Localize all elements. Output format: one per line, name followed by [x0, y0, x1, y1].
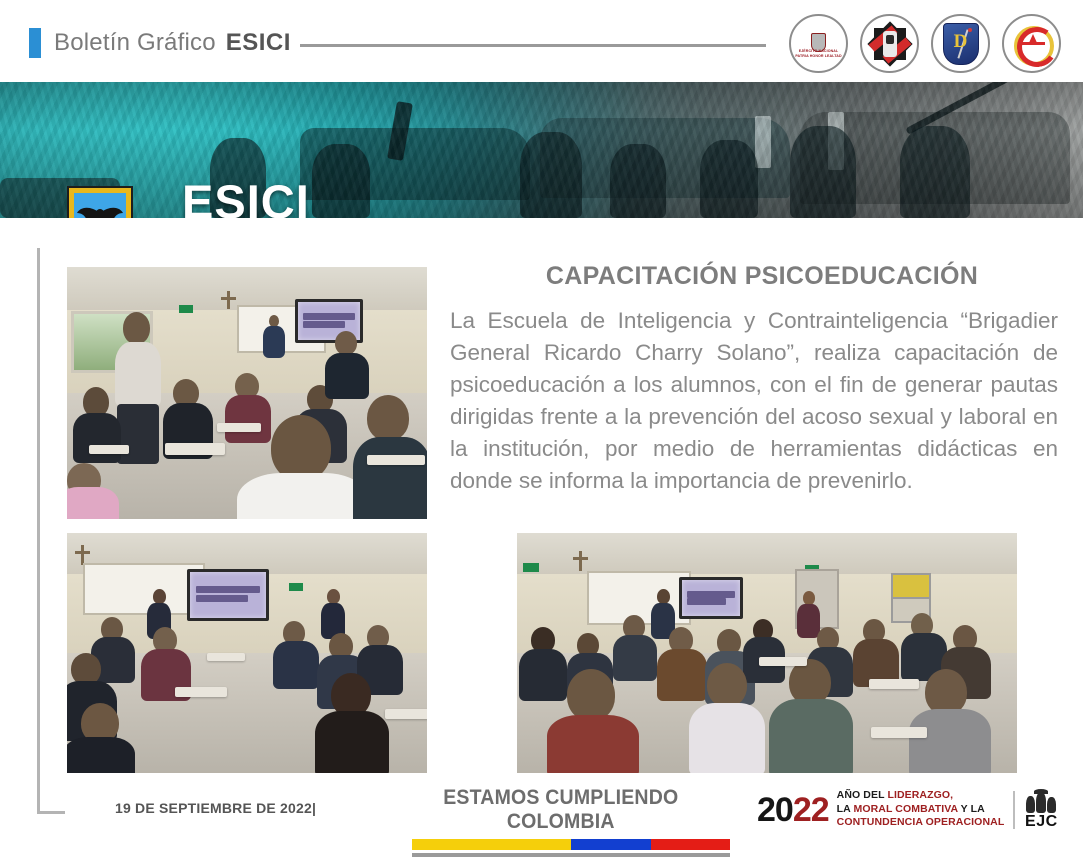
photo-classroom-bottom-right — [517, 533, 1017, 773]
footer-slogan-block: ESTAMOS CUMPLIENDO COLOMBIA — [412, 786, 732, 857]
banner-title: ESICI — [182, 178, 1042, 218]
flag-yellow — [412, 839, 571, 850]
footer-motto: AÑO DEL LIDERAZGO, LA MORAL COMBATIVA Y … — [837, 789, 1005, 829]
esici-shield-icon — [64, 183, 136, 218]
flag-red — [651, 839, 731, 850]
batallon-badge-logo-icon — [860, 14, 919, 73]
ejc-label: EJC — [1024, 814, 1058, 830]
motto-line2-prefix: LA — [837, 803, 854, 815]
left-frame-foot — [37, 811, 65, 814]
header-accent-bar — [29, 28, 41, 58]
article-body: La Escuela de Inteligencia y Contraintel… — [450, 305, 1058, 497]
motto-line1-prefix: AÑO DEL — [837, 789, 888, 801]
ejc-logo: EJC — [1024, 789, 1058, 830]
escudo-d-letter: D — [944, 31, 978, 53]
publication-date: 19 DE SEPTIEMBRE DE 2022| — [115, 800, 316, 816]
photo-classroom-bottom-left — [67, 533, 427, 773]
esici-banner: ESICI Escuela de Inteligencia y Contrain… — [0, 82, 1083, 218]
footer-year-block: 2022 AÑO DEL LIDERAZGO, LA MORAL COMBATI… — [757, 789, 1058, 830]
escudo-d-logo-icon: D — [931, 14, 990, 73]
brand-prefix: Boletín Gráfico — [54, 29, 216, 56]
page-title: Boletín GráficoESICI — [54, 28, 291, 58]
ejc-crest-icon — [1024, 789, 1058, 813]
footer-slogan: ESTAMOS CUMPLIENDO COLOMBIA — [412, 786, 710, 834]
page-header: Boletín GráficoESICI EJÉRCITO NACIONALPA… — [0, 0, 1083, 82]
banner-titles: ESICI Escuela de Inteligencia y Contrain… — [182, 178, 1042, 218]
motto-line2-suffix: Y LA — [958, 803, 985, 815]
motto-line3: CONTUNDENCIA OPERACIONAL — [837, 816, 1005, 828]
header-divider-line — [300, 44, 766, 47]
motto-line1-highlight: LIDERAZGO, — [887, 789, 953, 801]
flag-blue — [571, 839, 651, 850]
colombia-flag-bar — [412, 839, 730, 850]
ejercito-nacional-logo-icon: EJÉRCITO NACIONALPATRIA HONOR LEALTAD — [789, 14, 848, 73]
footer-slogan-rule — [412, 853, 730, 857]
footer-divider — [1013, 791, 1015, 829]
emblema-c-logo-icon — [1002, 14, 1061, 73]
photo-classroom-top-left — [67, 267, 427, 519]
left-frame-line — [37, 248, 40, 814]
brand-name: ESICI — [226, 29, 291, 56]
header-logo-group: EJÉRCITO NACIONALPATRIA HONOR LEALTAD D — [789, 14, 1061, 73]
year-second-half: 22 — [793, 793, 829, 827]
article-title: CAPACITACIÓN PSICOEDUCACIÓN — [452, 262, 1072, 291]
year-first-half: 20 — [757, 793, 793, 827]
motto-line2-highlight: MORAL COMBATIVA — [853, 803, 957, 815]
